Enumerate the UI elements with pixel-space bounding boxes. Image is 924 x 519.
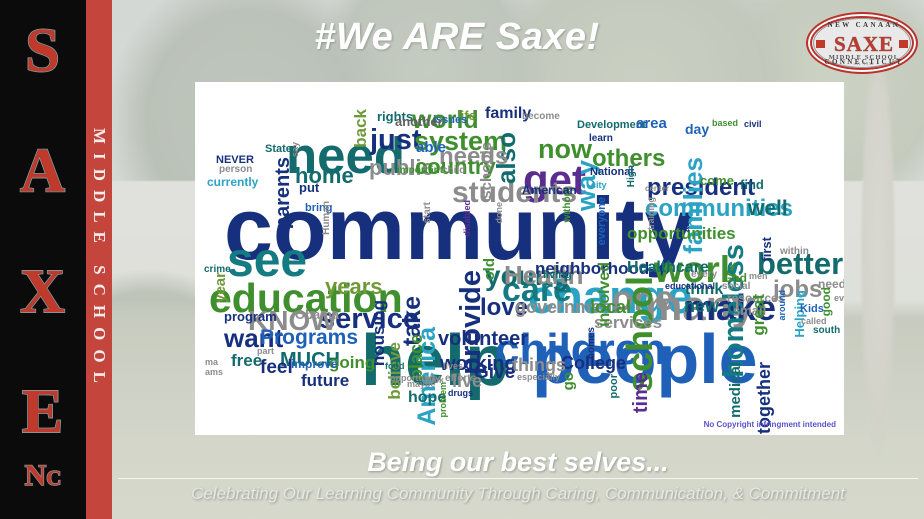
word-cloud-term: living bbox=[543, 270, 572, 281]
word-cloud-term: State bbox=[265, 144, 292, 155]
word-cloud-term: based bbox=[712, 119, 738, 128]
word-cloud-term: efforts bbox=[445, 374, 476, 384]
word-cloud-term: ams bbox=[205, 368, 223, 377]
word-cloud-term: years bbox=[325, 276, 383, 298]
banner-nc-monogram: NC bbox=[0, 459, 86, 493]
word-cloud-term: able bbox=[416, 140, 446, 155]
presentation-slide: S A X E NC MIDDLE SCHOOL #We ARE Saxe! N… bbox=[0, 0, 924, 519]
word-cloud-term: poor bbox=[609, 374, 620, 398]
word-cloud-term: every bbox=[691, 270, 717, 280]
word-cloud-term: Rick bbox=[425, 376, 444, 385]
word-cloud-term: ma bbox=[205, 358, 218, 367]
word-cloud-term: city bbox=[591, 181, 607, 190]
word-cloud-term: become bbox=[522, 112, 560, 122]
word-cloud-term: currently bbox=[207, 176, 258, 188]
word-cloud-term: around bbox=[778, 290, 787, 321]
word-cloud-term: men bbox=[749, 272, 768, 281]
word-cloud-term: south bbox=[813, 326, 840, 336]
banner-nc-sub: C bbox=[46, 466, 61, 490]
word-cloud-term: say bbox=[291, 142, 300, 157]
word-cloud-term: American bbox=[522, 184, 577, 196]
word-cloud-term: Human bbox=[322, 201, 332, 235]
word-cloud-term: person bbox=[219, 165, 252, 175]
word-cloud-term: disabled bbox=[463, 200, 472, 237]
banner-letter-x: X bbox=[20, 263, 66, 322]
word-cloud-term: lives bbox=[443, 362, 463, 371]
word-cloud-term: volunteer bbox=[438, 329, 528, 349]
banner-letter-a: A bbox=[20, 142, 66, 201]
word-cloud-term: learn bbox=[589, 134, 613, 144]
word-cloud-term: old bbox=[482, 258, 497, 281]
word-cloud-term: drugs bbox=[448, 389, 473, 398]
word-cloud: communitypeoplehelpchangechildrenneedsee… bbox=[195, 82, 844, 435]
word-cloud-term: another bbox=[395, 115, 443, 128]
word-cloud-term: child bbox=[442, 166, 465, 176]
copyright-note: No Copyright infringment intended bbox=[704, 420, 836, 429]
word-cloud-term: new bbox=[684, 297, 719, 315]
word-cloud-term: important bbox=[397, 166, 443, 176]
footer-subtitle: Celebrating Our Learning Community Throu… bbox=[112, 484, 924, 504]
word-cloud-term: ask bbox=[682, 217, 691, 232]
footer-divider bbox=[118, 478, 918, 479]
crest-state-label: CONNECTICUT bbox=[808, 58, 918, 66]
word-cloud-term: training bbox=[647, 197, 656, 230]
word-cloud-term: God bbox=[723, 272, 747, 284]
word-cloud-term: High bbox=[627, 165, 637, 187]
word-cloud-term: time bbox=[631, 372, 651, 413]
word-cloud-term: day bbox=[685, 122, 709, 136]
word-cloud-term: homes bbox=[587, 327, 597, 359]
saxe-vertical-letters: S A X E bbox=[0, 8, 86, 448]
word-cloud-term: Programs bbox=[260, 327, 358, 348]
word-cloud-term: Kids bbox=[800, 304, 824, 315]
word-cloud-term: especially bbox=[517, 373, 560, 382]
word-cloud-term: improve bbox=[291, 358, 338, 370]
word-cloud-term: find bbox=[740, 178, 764, 191]
word-cloud-term: within bbox=[780, 247, 809, 257]
word-cloud-term: put bbox=[299, 181, 319, 194]
banner-letter-e: E bbox=[22, 383, 64, 442]
word-cloud-term: Obama bbox=[295, 308, 339, 321]
word-cloud-term: involved bbox=[597, 262, 613, 327]
word-cloud-term: schools bbox=[479, 142, 494, 199]
red-stripe: MIDDLE SCHOOL bbox=[86, 0, 112, 519]
word-cloud-term: first bbox=[760, 237, 773, 262]
left-banner: S A X E NC bbox=[0, 0, 86, 519]
word-cloud-term: food bbox=[385, 362, 405, 371]
banner-nc-main: N bbox=[25, 459, 47, 492]
word-cloud-term: year bbox=[213, 272, 228, 303]
footer-tagline: Being our best selves... bbox=[112, 447, 924, 478]
word-cloud-card: communitypeoplehelpchangechildrenneedsee… bbox=[195, 82, 844, 435]
word-cloud-term: done bbox=[495, 202, 504, 224]
word-cloud-term: program bbox=[224, 310, 277, 323]
word-cloud-term: now bbox=[538, 136, 592, 163]
word-cloud-term: come bbox=[700, 174, 734, 187]
word-cloud-term: even bbox=[834, 294, 844, 303]
banner-letter-s: S bbox=[25, 22, 60, 81]
word-cloud-term: parents bbox=[273, 157, 293, 229]
school-crest-logo: NEW CANAAN SAXE MIDDLE SCHOOL est. 1930 … bbox=[806, 12, 918, 74]
stripe-label: MIDDLE SCHOOL bbox=[89, 128, 109, 392]
word-cloud-term: future bbox=[301, 372, 349, 389]
word-cloud-term: everyone bbox=[597, 197, 608, 245]
slide-title: #We ARE Saxe! bbox=[112, 16, 802, 59]
word-cloud-term: well bbox=[748, 198, 788, 219]
word-cloud-term: medical bbox=[728, 362, 743, 418]
word-cloud-term: part bbox=[257, 347, 274, 356]
word-cloud-term: great bbox=[750, 294, 767, 336]
crest-town-label: NEW CANAAN bbox=[808, 21, 918, 29]
word-cloud-term: go bbox=[561, 372, 576, 390]
word-cloud-term: feel bbox=[260, 358, 293, 377]
word-cloud-term: center bbox=[645, 185, 669, 193]
word-cloud-term: start bbox=[423, 202, 433, 224]
word-cloud-term: problem bbox=[439, 382, 448, 418]
word-cloud-term: educational bbox=[665, 282, 715, 291]
word-cloud-term: area bbox=[636, 116, 667, 131]
word-cloud-term: back bbox=[352, 109, 369, 148]
word-cloud-term: civil bbox=[744, 120, 762, 129]
